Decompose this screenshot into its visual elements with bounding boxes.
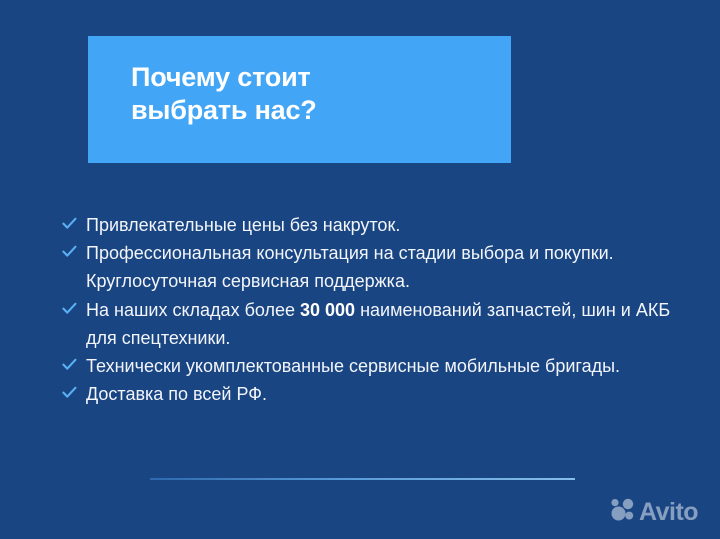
list-item-label: Профессиональная консультация на стадии … — [86, 239, 672, 295]
divider — [150, 478, 575, 480]
avito-dots-logo-icon — [610, 498, 636, 527]
list-item: Профессиональная консультация на стадии … — [62, 239, 672, 295]
check-icon — [62, 239, 86, 258]
check-icon — [62, 380, 86, 399]
list-item-label: Привлекательные цены без накруток. — [86, 211, 672, 239]
avito-watermark: Avito — [610, 498, 698, 527]
list-item-label: Технически укомплектованные сервисные мо… — [86, 352, 672, 380]
list-item: Технически укомплектованные сервисные мо… — [62, 352, 672, 380]
title-banner: Почему стоит выбрать нас? — [88, 36, 511, 163]
list-item-label: На наших складах более 30 000 наименован… — [86, 296, 672, 352]
list-item: Привлекательные цены без накруток. — [62, 211, 672, 239]
check-icon — [62, 296, 86, 315]
avito-wordmark: Avito — [639, 500, 698, 525]
check-icon — [62, 352, 86, 371]
page-title: Почему стоит выбрать нас? — [131, 61, 491, 127]
list-item-label: Доставка по всей РФ. — [86, 380, 672, 408]
list-item: Доставка по всей РФ. — [62, 380, 672, 408]
benefits-list: Привлекательные цены без накруток.Профес… — [62, 211, 672, 408]
list-item: На наших складах более 30 000 наименован… — [62, 296, 672, 352]
check-icon — [62, 211, 86, 230]
slide-canvas: Почему стоит выбрать нас? Привлекательны… — [0, 0, 720, 539]
